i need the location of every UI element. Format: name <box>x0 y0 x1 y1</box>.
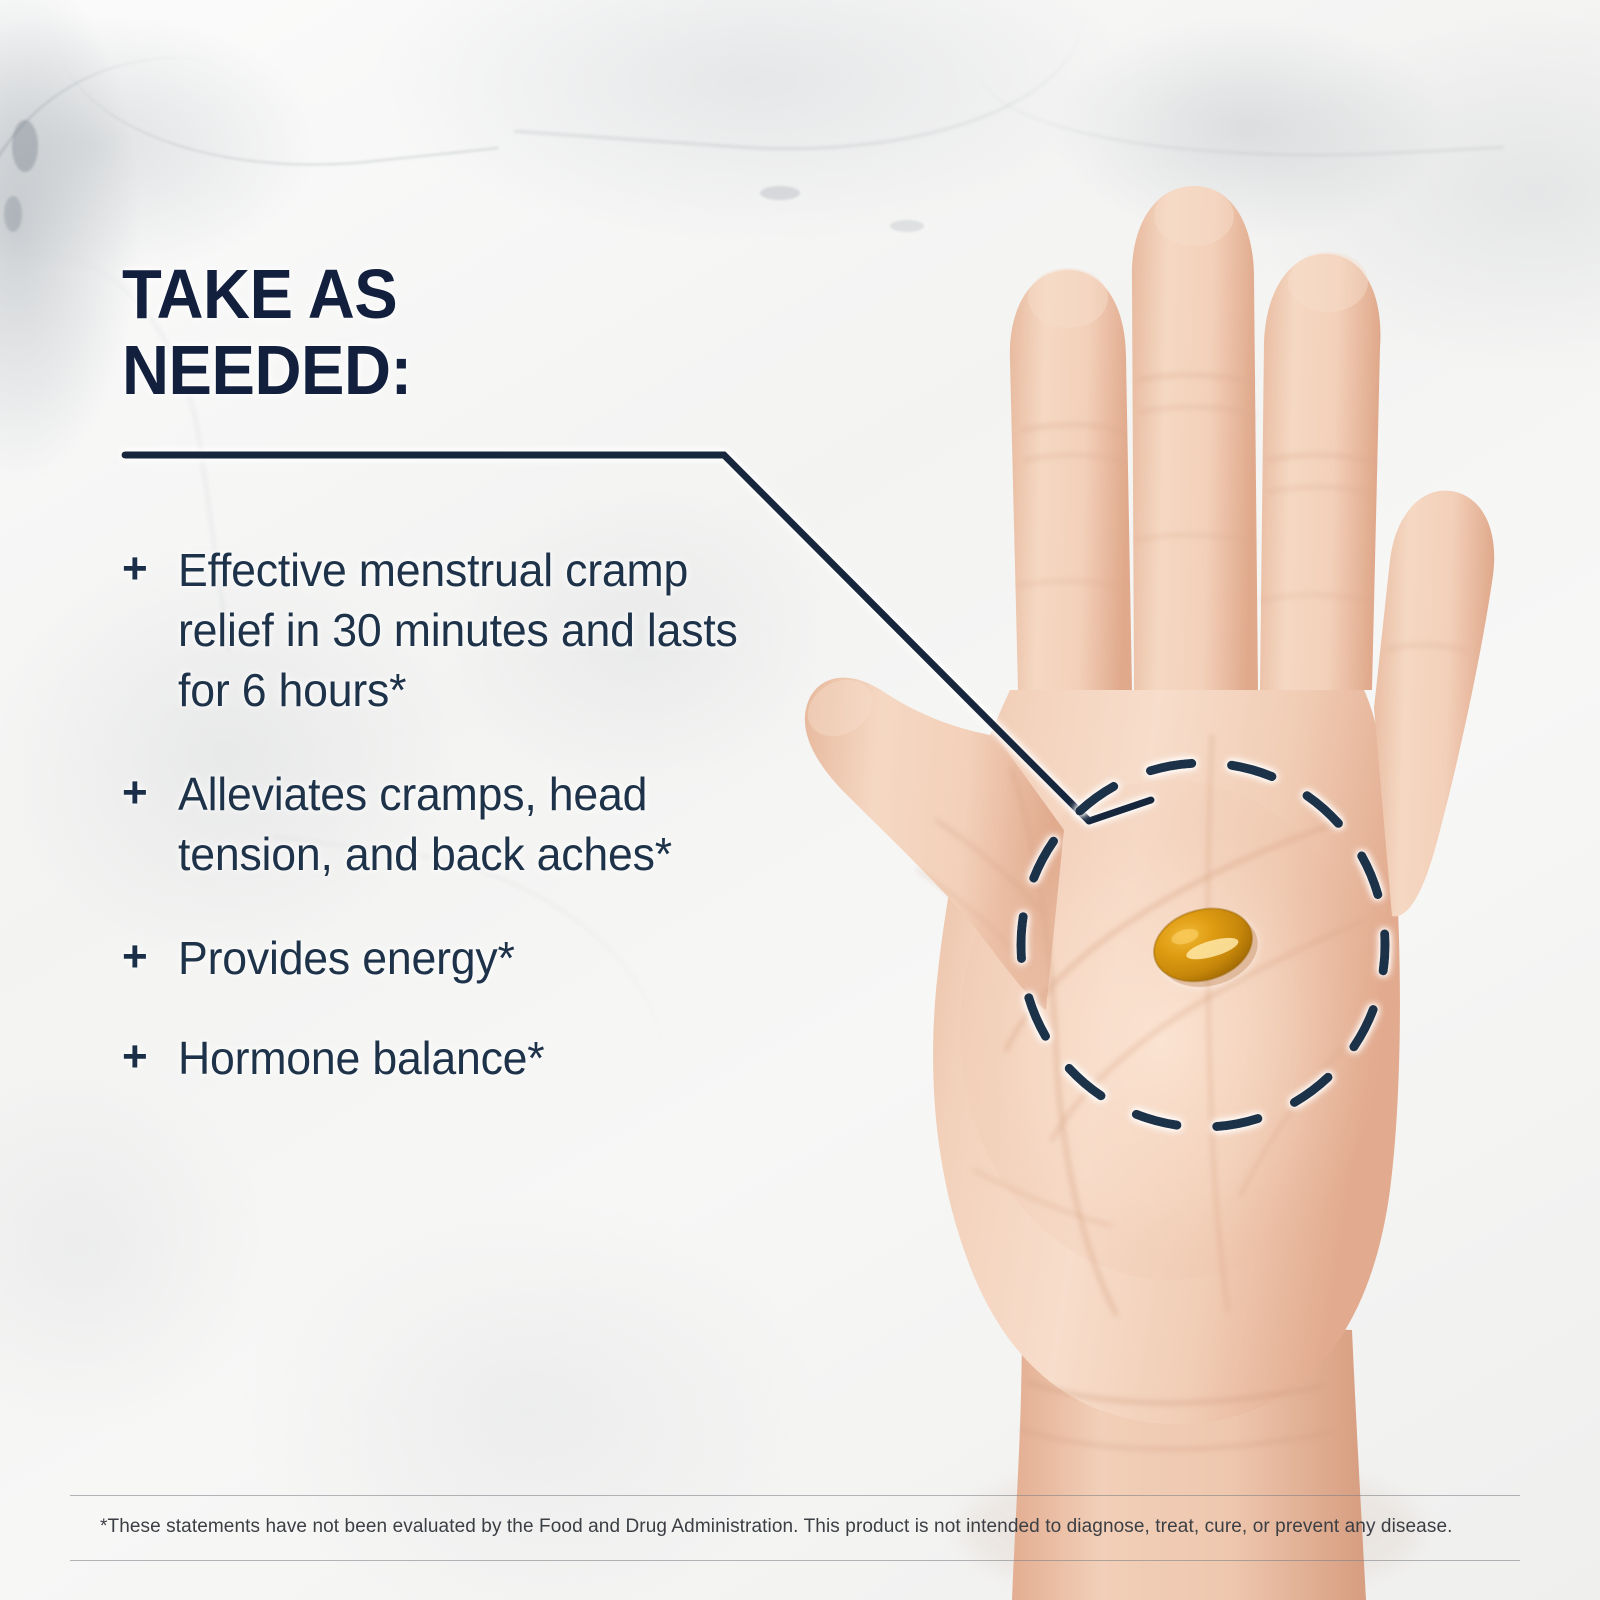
list-item: + Provides energy* <box>122 928 762 988</box>
marble-speck <box>12 120 38 172</box>
list-item: + Alleviates cramps, head tension, and b… <box>122 764 762 884</box>
fda-disclaimer: *These statements have not been evaluate… <box>100 1512 1500 1542</box>
footer-divider-top <box>70 1495 1520 1496</box>
marble-speck <box>4 196 22 232</box>
page-title: TAKE AS NEEDED: <box>122 256 699 408</box>
plus-icon: + <box>122 764 178 822</box>
plus-icon: + <box>122 1028 178 1086</box>
plus-icon: + <box>122 540 178 598</box>
benefit-text: Alleviates cramps, head tension, and bac… <box>178 764 744 884</box>
benefit-text: Effective menstrual cramp relief in 30 m… <box>178 540 744 720</box>
list-item: + Effective menstrual cramp relief in 30… <box>122 540 762 720</box>
benefit-text: Provides energy* <box>178 928 744 988</box>
product-infographic: TAKE AS NEEDED: + Effective menstrual cr… <box>0 0 1600 1600</box>
benefits-list: + Effective menstrual cramp relief in 30… <box>122 540 762 1128</box>
plus-icon: + <box>122 928 178 986</box>
hand-photo <box>760 130 1600 1600</box>
footer-divider-bottom <box>70 1560 1520 1561</box>
benefit-text: Hormone balance* <box>178 1028 744 1088</box>
list-item: + Hormone balance* <box>122 1028 762 1088</box>
